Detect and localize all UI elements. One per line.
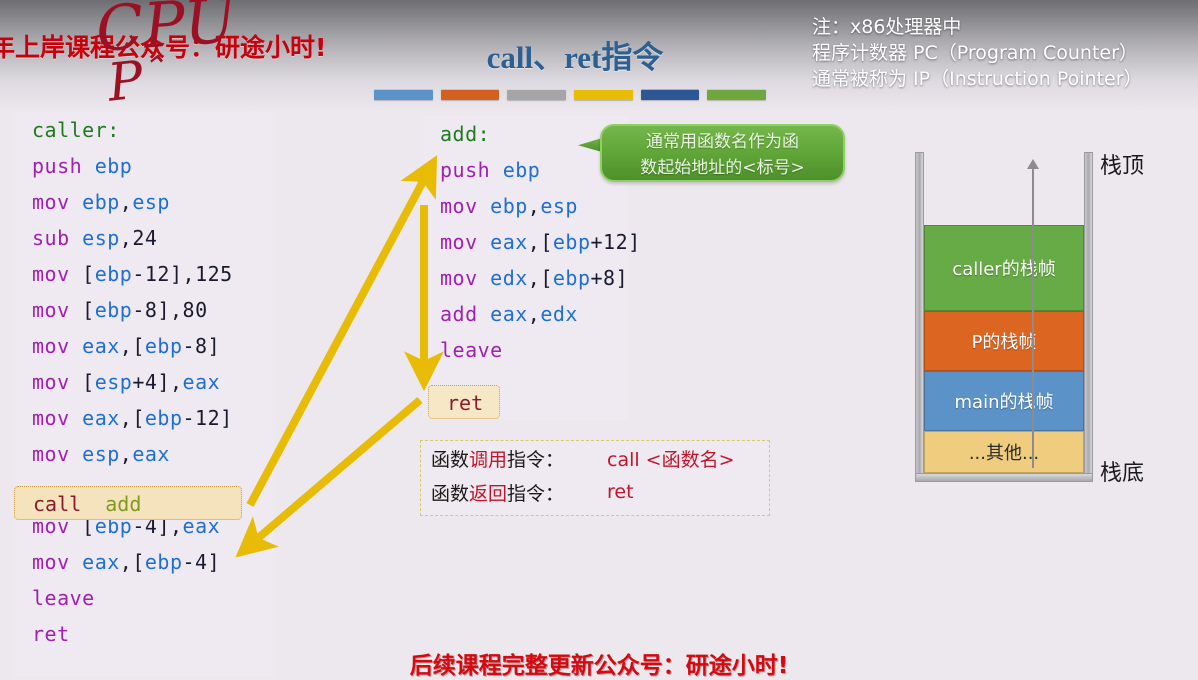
- caller-code-operand: [: [82, 370, 95, 394]
- call-keyword: call: [33, 492, 81, 516]
- ret-to-caller-arrow: [250, 400, 420, 545]
- code-space: [478, 230, 491, 254]
- add-code-operand: +12: [591, 230, 629, 254]
- stack-growth-arrow-icon: [1032, 168, 1034, 468]
- caller-code-operand: ]: [208, 334, 221, 358]
- processor-note: 注：x86处理器中程序计数器 PC（Program Counter）通常被称为 …: [812, 14, 1143, 92]
- caller-code-mnemonic: push: [32, 154, 82, 178]
- title-bar-2: [507, 89, 566, 100]
- caller-code-mnemonic: mov: [32, 298, 70, 322]
- add-code-operand: ebp: [490, 194, 528, 218]
- caller-code-operand: +4: [132, 370, 157, 394]
- caller-code-line: push ebp: [14, 148, 274, 184]
- code-space: [70, 226, 83, 250]
- caller-code-operand: eax: [82, 550, 120, 574]
- caller-code-operand: 125: [195, 262, 233, 286]
- caller-code-line: sub esp,24: [14, 220, 274, 256]
- watermark-left-text: 年上岸课程公众号：研途小时!: [0, 28, 280, 64]
- caller-code-operand: ebp: [95, 298, 133, 322]
- add-code-operand: ,: [528, 194, 541, 218]
- code-space: [70, 334, 83, 358]
- caller-code-operand: ],: [157, 298, 182, 322]
- caller-code-operand: esp: [132, 190, 170, 214]
- add-code-operand: edx: [540, 302, 578, 326]
- call-add-highlight[interactable]: call add: [14, 486, 242, 520]
- stack-frame-1: P的栈帧: [924, 311, 1084, 371]
- instruction-label-suffix: 指令：: [507, 449, 564, 471]
- caller-code-line: mov [ebp-12],125: [14, 256, 274, 292]
- add-code-operand: ,[: [528, 230, 553, 254]
- caller-code-panel: caller:push ebpmov ebp,espsub esp,24mov …: [14, 112, 274, 676]
- code-space: [478, 266, 491, 290]
- title-bar-5: [707, 89, 766, 100]
- code-space: [70, 190, 83, 214]
- stack-left-wall: [915, 152, 924, 482]
- page-title: call、ret指令: [380, 32, 770, 77]
- instruction-row-0: 函数调用指令：call <函数名>: [421, 441, 769, 475]
- instruction-row-label-0: 函数调用指令：: [431, 445, 607, 472]
- add-code-mnemonic: mov: [440, 194, 478, 218]
- add-code-operand: esp: [540, 194, 578, 218]
- title-bar-0: [374, 89, 433, 100]
- caller-code-operand: ,[: [120, 406, 145, 430]
- caller-code-operand: ]: [208, 550, 221, 574]
- code-space: [70, 262, 83, 286]
- caller-code-operand: ]: [220, 406, 233, 430]
- caller-code-operand: eax: [82, 406, 120, 430]
- stack-frame-3: ...其他...: [924, 431, 1084, 473]
- code-space: [490, 158, 503, 182]
- caller-code-line: mov esp,eax: [14, 436, 274, 472]
- instruction-summary-box: 函数调用指令：call <函数名>函数返回指令：ret: [420, 440, 770, 516]
- add-code-line: push ebp: [422, 152, 628, 188]
- caller-code-mnemonic: ret: [32, 622, 70, 646]
- caller-code-line: mov eax,[ebp-8]: [14, 328, 274, 364]
- caller-code-mnemonic: mov: [32, 406, 70, 430]
- processor-note-line-2: 通常被称为 IP（Instruction Pointer）: [812, 66, 1143, 92]
- caller-code-label: caller:: [32, 118, 120, 142]
- caller-code-operand: ebp: [82, 190, 120, 214]
- caller-code-line: caller:: [14, 112, 274, 148]
- stack-container: caller的栈帧P的栈帧main的栈帧...其他...: [915, 152, 1093, 482]
- caller-code-mnemonic: sub: [32, 226, 70, 250]
- processor-note-line-1: 程序计数器 PC（Program Counter）: [812, 40, 1143, 66]
- caller-code-operand: [: [82, 262, 95, 286]
- add-function-code-panel: add:push ebpmov ebp,espmov eax,[ebp+12]m…: [422, 116, 628, 420]
- caller-code-operand: -8: [183, 334, 208, 358]
- code-space: [70, 298, 83, 322]
- add-code-label: add:: [440, 122, 490, 146]
- caller-code-mnemonic: mov: [32, 190, 70, 214]
- caller-code-operand: 80: [183, 298, 208, 322]
- label-explanation-callout: 通常用函数名作为函 数起始地址的<标号>: [600, 124, 845, 182]
- stack-frame-2: main的栈帧: [924, 371, 1084, 431]
- code-space: [70, 406, 83, 430]
- caller-code-mnemonic: mov: [32, 334, 70, 358]
- caller-code-mnemonic: mov: [32, 550, 70, 574]
- title-bar-1: [441, 89, 500, 100]
- instruction-label-prefix: 函数: [431, 483, 469, 505]
- caller-code-operand: -12: [183, 406, 221, 430]
- processor-note-line-0: 注：x86处理器中: [812, 14, 1143, 40]
- caller-code-operand: ,[: [120, 550, 145, 574]
- title-bar-3: [574, 89, 633, 100]
- call-space: [81, 492, 105, 516]
- code-space: [70, 442, 83, 466]
- code-space: [478, 194, 491, 218]
- caller-code-mnemonic: mov: [32, 262, 70, 286]
- caller-code-operand: eax: [132, 442, 170, 466]
- caller-code-line: mov ebp,esp: [14, 184, 274, 220]
- instruction-row-label-1: 函数返回指令：: [431, 479, 607, 506]
- stack-frame-list: caller的栈帧P的栈帧main的栈帧...其他...: [924, 225, 1084, 473]
- add-code-mnemonic: mov: [440, 230, 478, 254]
- title-bar-4: [641, 89, 700, 100]
- add-code-mnemonic: push: [440, 158, 490, 182]
- stack-bottom-wall: [915, 473, 1093, 482]
- add-code-operand: +8: [591, 266, 616, 290]
- call-target-label: add: [105, 492, 141, 516]
- add-code-operand: eax: [490, 230, 528, 254]
- stack-right-wall: [1084, 152, 1093, 482]
- code-space: [70, 370, 83, 394]
- instruction-row-value-1: ret: [607, 481, 634, 503]
- caller-code-operand: eax: [82, 334, 120, 358]
- add-code-operand: eax: [490, 302, 528, 326]
- caller-code-operand: ebp: [145, 334, 183, 358]
- add-code-operand: ,: [528, 302, 541, 326]
- caller-code-line: mov eax,[ebp-12]: [14, 400, 274, 436]
- instruction-label-accent: 调用: [469, 449, 507, 471]
- caller-code-operand: ebp: [145, 550, 183, 574]
- caller-code-mnemonic: mov: [32, 442, 70, 466]
- instruction-label-accent: 返回: [469, 483, 507, 505]
- caller-code-operand: [: [82, 298, 95, 322]
- caller-code-operand: -8: [132, 298, 157, 322]
- add-code-operand: ebp: [503, 158, 541, 182]
- add-code-mnemonic: leave: [440, 338, 503, 362]
- caller-code-operand: ,[: [120, 334, 145, 358]
- caller-code-operand: ,: [120, 442, 133, 466]
- callout-line-2: 数起始地址的<标号>: [602, 155, 843, 181]
- caller-code-operand: esp: [95, 370, 133, 394]
- footer-banner: 后续课程完整更新公众号：研途小时!: [0, 646, 1198, 680]
- add-code-operand: ,[: [528, 266, 553, 290]
- caller-code-mnemonic: mov: [32, 370, 70, 394]
- add-code-operand: ebp: [553, 266, 591, 290]
- instruction-row-1: 函数返回指令：ret: [421, 475, 769, 509]
- caller-code-operand: 24: [132, 226, 157, 250]
- stack-diagram: caller的栈帧P的栈帧main的栈帧...其他...: [915, 152, 1093, 482]
- caller-code-operand: -4: [183, 550, 208, 574]
- title-decoration-bars: [374, 89, 766, 100]
- caller-code-operand: ],: [157, 370, 182, 394]
- stack-bottom-label: 栈底: [1100, 455, 1144, 487]
- caller-code-operand: ebp: [145, 406, 183, 430]
- add-code-mnemonic: mov: [440, 266, 478, 290]
- caller-code-line: mov [ebp-8],80: [14, 292, 274, 328]
- stack-top-label: 栈顶: [1100, 148, 1144, 180]
- callout-line-1: 通常用函数名作为函: [602, 129, 843, 155]
- add-code-operand: ]: [628, 230, 641, 254]
- caller-code-operand: ,: [120, 226, 133, 250]
- caller-code-operand: esp: [82, 226, 120, 250]
- caller-code-operand: esp: [82, 442, 120, 466]
- caller-code-operand: eax: [183, 370, 221, 394]
- add-code-line: mov eax,[ebp+12]: [422, 224, 628, 260]
- call-to-add-arrow: [250, 172, 428, 505]
- caller-code-operand: -12: [132, 262, 170, 286]
- instruction-label-prefix: 函数: [431, 449, 469, 471]
- caller-code-line: mov eax,[ebp-4]: [14, 544, 274, 580]
- ret-highlight[interactable]: ret: [428, 385, 500, 419]
- add-code-operand: ]: [616, 266, 629, 290]
- code-space: [70, 550, 83, 574]
- add-code-line: leave: [422, 332, 628, 368]
- caller-code-operand: ],: [170, 262, 195, 286]
- caller-code-line: mov [esp+4],eax: [14, 364, 274, 400]
- caller-code-line: leave: [14, 580, 274, 616]
- add-code-line: mov ebp,esp: [422, 188, 628, 224]
- add-code-operand: ebp: [553, 230, 591, 254]
- code-space: [82, 154, 95, 178]
- instruction-label-suffix: 指令：: [507, 483, 564, 505]
- ret-keyword: ret: [447, 391, 483, 415]
- caller-code-operand: ebp: [95, 262, 133, 286]
- add-code-operand: edx: [490, 266, 528, 290]
- instruction-row-value-0: call <函数名>: [607, 445, 735, 472]
- add-code-mnemonic: add: [440, 302, 478, 326]
- stack-frame-0: caller的栈帧: [924, 225, 1084, 311]
- code-space: [478, 302, 491, 326]
- caller-code-operand: ebp: [95, 154, 133, 178]
- add-code-line: mov edx,[ebp+8]: [422, 260, 628, 296]
- add-code-line: add eax,edx: [422, 296, 628, 332]
- caller-code-mnemonic: leave: [32, 586, 95, 610]
- caller-code-operand: ,: [120, 190, 133, 214]
